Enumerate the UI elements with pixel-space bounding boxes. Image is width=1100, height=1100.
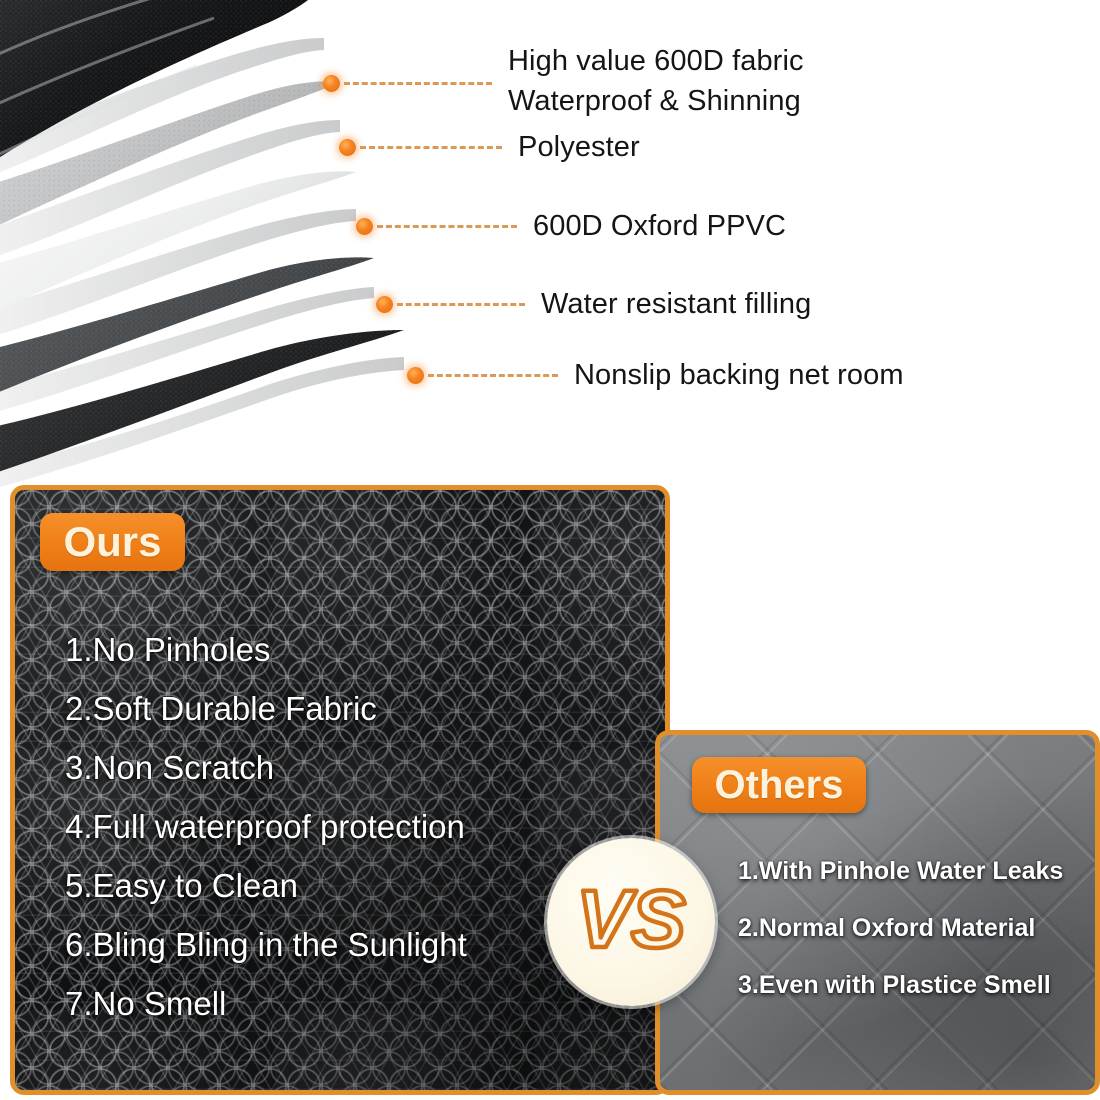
list-item: 7.No Smell	[65, 974, 655, 1033]
callout-dot-icon	[407, 367, 424, 384]
callout-polyester: Polyester	[339, 127, 640, 167]
callout-label: Polyester	[518, 127, 640, 167]
callout-leader-line	[360, 146, 502, 149]
callout-dot-icon	[339, 139, 356, 156]
callout-dot-icon	[356, 218, 373, 235]
callout-label: High value 600D fabric Waterproof & Shin…	[508, 41, 804, 121]
vs-letters-icon: VS	[565, 876, 697, 968]
callout-leader-line	[377, 225, 517, 228]
callout-dot-icon	[376, 296, 393, 313]
callout-dot-icon	[323, 75, 340, 92]
feature-list-others: 1.With Pinhole Water Leaks 2.Normal Oxfo…	[738, 843, 1083, 1014]
callout-leader-line	[344, 82, 492, 85]
vs-text: VS	[576, 876, 685, 965]
list-item: 1.With Pinhole Water Leaks	[738, 843, 1083, 900]
badge-ours: Ours	[40, 513, 185, 571]
callout-oxford-ppvc: 600D Oxford PPVC	[356, 206, 786, 246]
callout-label: Nonslip backing net room	[574, 355, 904, 395]
list-item: 2.Normal Oxford Material	[738, 900, 1083, 957]
comparison-panel-ours: Ours 1.No Pinholes 2.Soft Durable Fabric…	[10, 485, 670, 1095]
vs-badge: VS	[547, 838, 715, 1006]
list-item: 3.Even with Plastice Smell	[738, 957, 1083, 1014]
list-item: 4.Full waterproof protection	[65, 797, 655, 856]
list-item: 2.Soft Durable Fabric	[65, 679, 655, 738]
callout-nonslip-backing: Nonslip backing net room	[407, 355, 904, 395]
badge-others: Others	[692, 757, 866, 813]
callout-leader-line	[397, 303, 525, 306]
list-item: 3.Non Scratch	[65, 738, 655, 797]
comparison-panel-others: Others 1.With Pinhole Water Leaks 2.Norm…	[655, 730, 1100, 1095]
callout-600d-fabric: High value 600D fabric Waterproof & Shin…	[323, 45, 804, 121]
infographic-canvas: High value 600D fabric Waterproof & Shin…	[0, 0, 1100, 1100]
callout-leader-line	[428, 374, 558, 377]
callout-label: Water resistant filling	[541, 284, 811, 324]
callout-label: 600D Oxford PPVC	[533, 206, 786, 246]
list-item: 1.No Pinholes	[65, 620, 655, 679]
callout-water-resistant-filling: Water resistant filling	[376, 284, 811, 324]
